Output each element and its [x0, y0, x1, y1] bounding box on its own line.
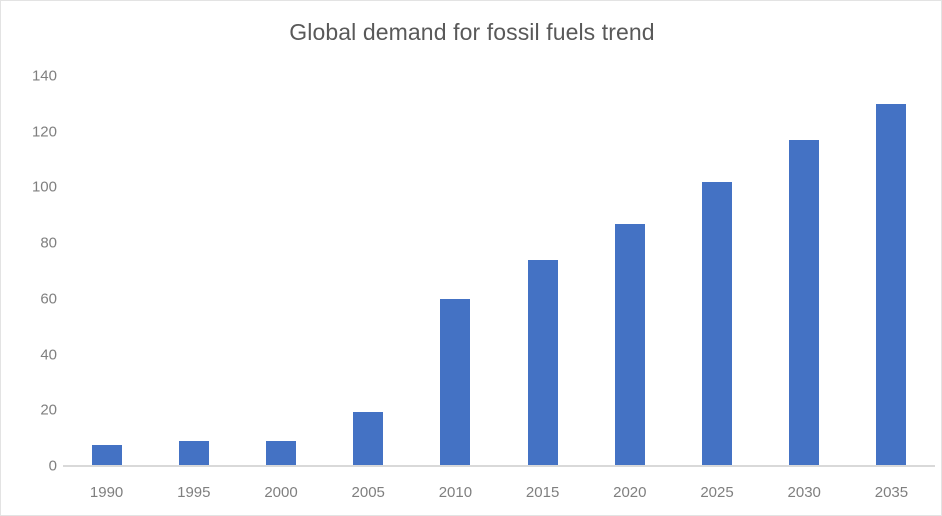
x-axis: 1990199520002005201020152020202520302035: [63, 480, 935, 506]
bar[interactable]: [789, 140, 819, 466]
y-axis-tick-label: 80: [5, 235, 57, 252]
x-axis-tick-label: 1990: [63, 480, 150, 506]
bar-slot: [63, 76, 150, 466]
y-axis-tick-label: 20: [5, 402, 57, 419]
y-axis-tick-label: 140: [5, 68, 57, 85]
bar[interactable]: [266, 441, 296, 466]
chart-title: Global demand for fossil fuels trend: [1, 19, 942, 46]
x-axis-tick-label: 2020: [586, 480, 673, 506]
bar[interactable]: [615, 224, 645, 466]
bar-slot: [499, 76, 586, 466]
x-axis-tick-label: 2025: [673, 480, 760, 506]
y-axis-tick-label: 0: [5, 458, 57, 475]
y-axis-tick-label: 100: [5, 179, 57, 196]
x-axis-tick-label: 1995: [150, 480, 237, 506]
chart-container: Global demand for fossil fuels trend 020…: [0, 0, 942, 516]
x-axis-tick-label: 2000: [237, 480, 324, 506]
bar[interactable]: [528, 260, 558, 466]
y-axis: 020406080100120140: [1, 1, 57, 516]
bar-slot: [150, 76, 237, 466]
bar-slot: [761, 76, 848, 466]
y-axis-tick-label: 120: [5, 123, 57, 140]
bar[interactable]: [92, 445, 122, 466]
x-axis-tick-label: 2035: [848, 480, 935, 506]
bar[interactable]: [702, 182, 732, 466]
y-axis-tick-label: 60: [5, 290, 57, 307]
x-axis-tick-label: 2015: [499, 480, 586, 506]
y-axis-tick-label: 40: [5, 346, 57, 363]
bar[interactable]: [353, 412, 383, 466]
bar[interactable]: [179, 441, 209, 466]
x-axis-tick-label: 2030: [761, 480, 848, 506]
x-axis-tick-label: 2010: [412, 480, 499, 506]
bar-slot: [586, 76, 673, 466]
x-axis-line: [63, 465, 935, 467]
bar[interactable]: [440, 299, 470, 466]
bar-slot: [673, 76, 760, 466]
bar[interactable]: [876, 104, 906, 466]
bar-slot: [237, 76, 324, 466]
x-axis-tick-label: 2005: [325, 480, 412, 506]
bar-series: [63, 76, 935, 466]
bar-slot: [848, 76, 935, 466]
bar-slot: [325, 76, 412, 466]
bar-slot: [412, 76, 499, 466]
